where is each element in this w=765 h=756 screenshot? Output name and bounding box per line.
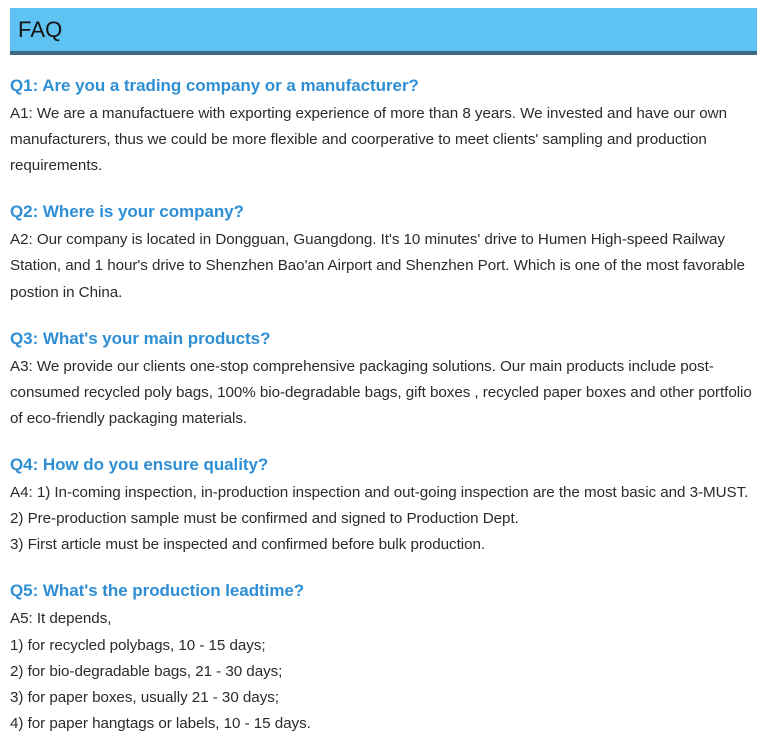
- faq-answer-line: A4: 1) In-coming inspection, in-producti…: [10, 480, 753, 506]
- faq-answer-line: A1: We are a manufactuere with exporting…: [10, 101, 753, 179]
- faq-question: Q4: How do you ensure quality?: [10, 454, 753, 477]
- faq-answer: A1: We are a manufactuere with exporting…: [10, 101, 753, 179]
- faq-item: Q3: What's your main products?A3: We pro…: [10, 328, 753, 432]
- faq-answer: A2: Our company is located in Dongguan, …: [10, 227, 753, 305]
- faq-question: Q3: What's your main products?: [10, 328, 753, 351]
- faq-answer: A5: It depends,1) for recycled polybags,…: [10, 606, 753, 737]
- faq-answer-line: A2: Our company is located in Dongguan, …: [10, 227, 753, 305]
- faq-question: Q2: Where is your company?: [10, 201, 753, 224]
- faq-answer: A3: We provide our clients one-stop comp…: [10, 354, 753, 432]
- faq-item: Q1: Are you a trading company or a manuf…: [10, 75, 753, 179]
- faq-item: Q2: Where is your company?A2: Our compan…: [10, 201, 753, 305]
- faq-answer-line: 3) for paper boxes, usually 21 - 30 days…: [10, 685, 753, 711]
- faq-header-bar: FAQ: [10, 8, 757, 55]
- faq-answer-line: 2) Pre-production sample must be confirm…: [10, 506, 753, 532]
- faq-question: Q5: What's the production leadtime?: [10, 580, 753, 603]
- faq-answer-line: A3: We provide our clients one-stop comp…: [10, 354, 753, 432]
- faq-answer-line: 4) for paper hangtags or labels, 10 - 15…: [10, 711, 753, 737]
- page-title: FAQ: [10, 19, 62, 41]
- faq-item: Q4: How do you ensure quality?A4: 1) In-…: [10, 454, 753, 558]
- faq-list: Q1: Are you a trading company or a manuf…: [0, 75, 765, 737]
- faq-question: Q1: Are you a trading company or a manuf…: [10, 75, 753, 98]
- faq-answer-line: 2) for bio-degradable bags, 21 - 30 days…: [10, 659, 753, 685]
- faq-answer-line: A5: It depends,: [10, 606, 753, 632]
- faq-answer-line: 1) for recycled polybags, 10 - 15 days;: [10, 633, 753, 659]
- faq-page: FAQ Q1: Are you a trading company or a m…: [0, 8, 765, 756]
- faq-answer: A4: 1) In-coming inspection, in-producti…: [10, 480, 753, 558]
- faq-answer-line: 3) First article must be inspected and c…: [10, 532, 753, 558]
- faq-item: Q5: What's the production leadtime?A5: I…: [10, 580, 753, 737]
